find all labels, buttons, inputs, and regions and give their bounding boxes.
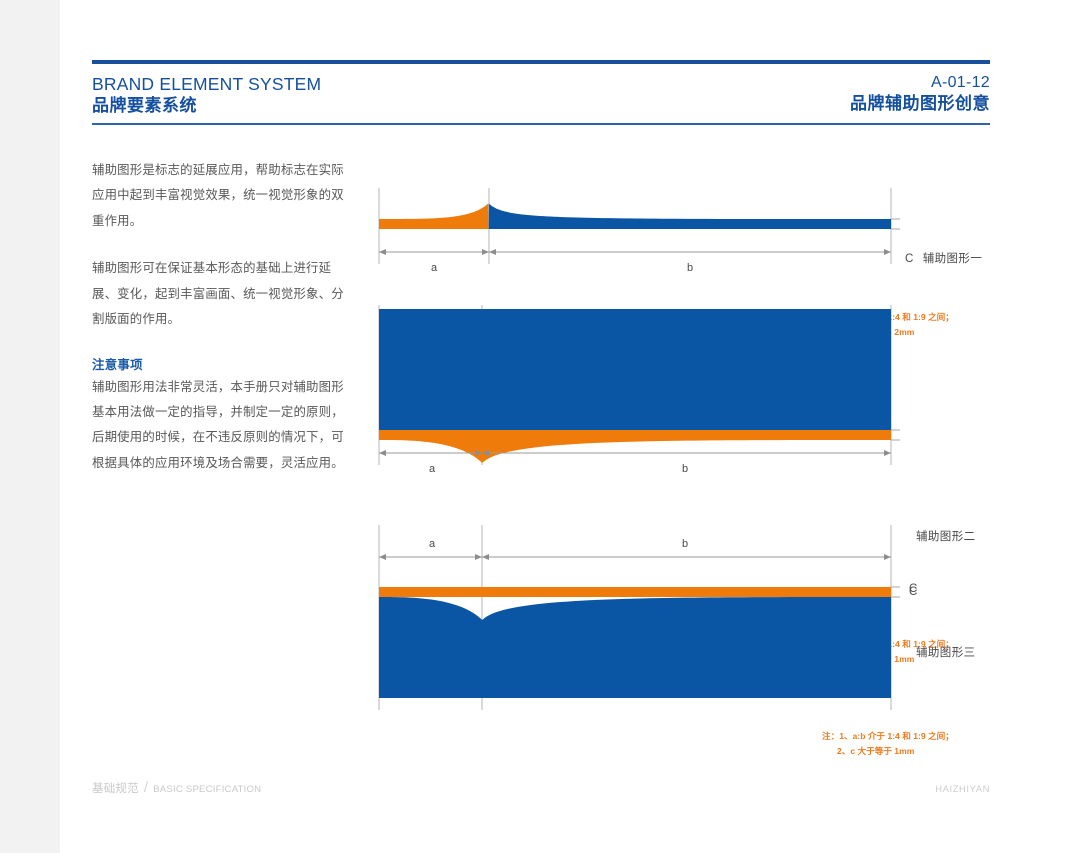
figure-1-dim-a: a bbox=[431, 262, 438, 274]
figure-2-dim-a: a bbox=[429, 463, 436, 475]
description-paragraph-2: 辅助图形可在保证基本形态的基础上进行延展、变化，起到丰富画面、统一视觉形象、分割… bbox=[92, 256, 344, 332]
figure-1-name: 辅助图形一 bbox=[923, 253, 983, 265]
figure-3-orange-band bbox=[379, 587, 891, 597]
arrow-a-right bbox=[475, 554, 482, 560]
figure-2-orange-band bbox=[379, 430, 891, 463]
figure-2: a b 辅助图形二 C 注：1、a:b 介于 1:4 和 1:9 之间； 2、c… bbox=[370, 305, 900, 480]
figure-1-blue-shape bbox=[489, 204, 891, 230]
arrow-b-left bbox=[489, 249, 496, 255]
footer-section-en: BASIC SPECIFICATION bbox=[153, 784, 261, 795]
figure-1-label: C辅助图形一 bbox=[905, 250, 982, 266]
figure-2-dim-b: b bbox=[682, 463, 688, 475]
figure-3-note: 注：1、a:b 介于 1:4 和 1:9 之间； 2、c 大于等于 1mm bbox=[822, 729, 954, 759]
arrow-right bbox=[884, 450, 891, 456]
brand-guideline-page: BRAND ELEMENT SYSTEM 品牌要素系统 A-01-12 品牌辅助… bbox=[0, 0, 1070, 853]
arrow-left bbox=[379, 249, 386, 255]
figure-3-note-line2: 2、c 大于等于 1mm bbox=[822, 744, 954, 759]
left-edge-band bbox=[0, 0, 60, 853]
page-footer: 基础规范 / BASIC SPECIFICATION HAIZHIYAN bbox=[92, 779, 990, 796]
description-paragraph-1: 辅助图形是标志的延展应用，帮助标志在实际应用中起到丰富视觉效果，统一视觉形象的双… bbox=[92, 158, 344, 234]
figure-3-name-label: 辅助图形三 bbox=[916, 644, 976, 660]
figure-3-blue-block bbox=[379, 597, 891, 698]
figure-2-graphic: a b bbox=[370, 305, 900, 480]
header-title-cn: 品牌要素系统 bbox=[92, 95, 321, 117]
header-title-en: BRAND ELEMENT SYSTEM bbox=[92, 73, 321, 95]
header-title-group: BRAND ELEMENT SYSTEM 品牌要素系统 bbox=[92, 73, 321, 117]
footer-brand: HAIZHIYAN bbox=[935, 783, 990, 794]
header-bottom-rule bbox=[92, 123, 990, 125]
figure-2-blue-block bbox=[379, 309, 891, 430]
footer-slash: / bbox=[144, 779, 148, 796]
figures-area: a b C辅助图形一 注：1、a:b 介于 1:4 和 1:9 之间； 2、c … bbox=[370, 150, 1010, 760]
page-code: A-01-12 bbox=[850, 73, 990, 93]
notice-heading: 注意事项 bbox=[92, 355, 344, 373]
figure-3-dim-a: a bbox=[429, 538, 436, 550]
section-title-cn: 品牌辅助图形创意 bbox=[850, 93, 990, 115]
figure-3-graphic: a b bbox=[370, 525, 900, 725]
header-code-group: A-01-12 品牌辅助图形创意 bbox=[850, 73, 990, 116]
page-header: BRAND ELEMENT SYSTEM 品牌要素系统 A-01-12 品牌辅助… bbox=[92, 60, 990, 125]
arrow-a-right bbox=[482, 249, 489, 255]
arrow-left bbox=[379, 450, 386, 456]
figure-3-c-label: C bbox=[909, 583, 918, 595]
footer-section-cn: 基础规范 bbox=[92, 780, 139, 796]
figure-3-dim-b: b bbox=[682, 538, 688, 550]
figure-1-graphic: a b bbox=[370, 188, 900, 278]
figure-3-note-line1: 注：1、a:b 介于 1:4 和 1:9 之间； bbox=[822, 731, 954, 741]
arrow-right bbox=[884, 249, 891, 255]
figure-3: a b C 辅助图形三 注：1、a:b 介于 1:4 和 1:9 之间； 2、c… bbox=[370, 525, 900, 725]
arrow-b-left bbox=[482, 554, 489, 560]
figure-1-dim-b: b bbox=[687, 262, 693, 274]
figure-1: a b C辅助图形一 注：1、a:b 介于 1:4 和 1:9 之间； 2、c … bbox=[370, 188, 900, 278]
arrow-left bbox=[379, 554, 386, 560]
figure-2-name-label: 辅助图形二 bbox=[916, 528, 976, 544]
figure-1-orange-shape bbox=[379, 204, 488, 230]
figure-1-c-label: C bbox=[905, 253, 914, 265]
description-column: 辅助图形是标志的延展应用，帮助标志在实际应用中起到丰富视觉效果，统一视觉形象的双… bbox=[92, 158, 344, 476]
footer-left-group: 基础规范 / BASIC SPECIFICATION bbox=[92, 779, 261, 796]
notice-paragraph: 辅助图形用法非常灵活，本手册只对辅助图形基本用法做一定的指导，并制定一定的原则，… bbox=[92, 375, 344, 477]
header-body: BRAND ELEMENT SYSTEM 品牌要素系统 A-01-12 品牌辅助… bbox=[92, 64, 990, 123]
arrow-right bbox=[884, 554, 891, 560]
